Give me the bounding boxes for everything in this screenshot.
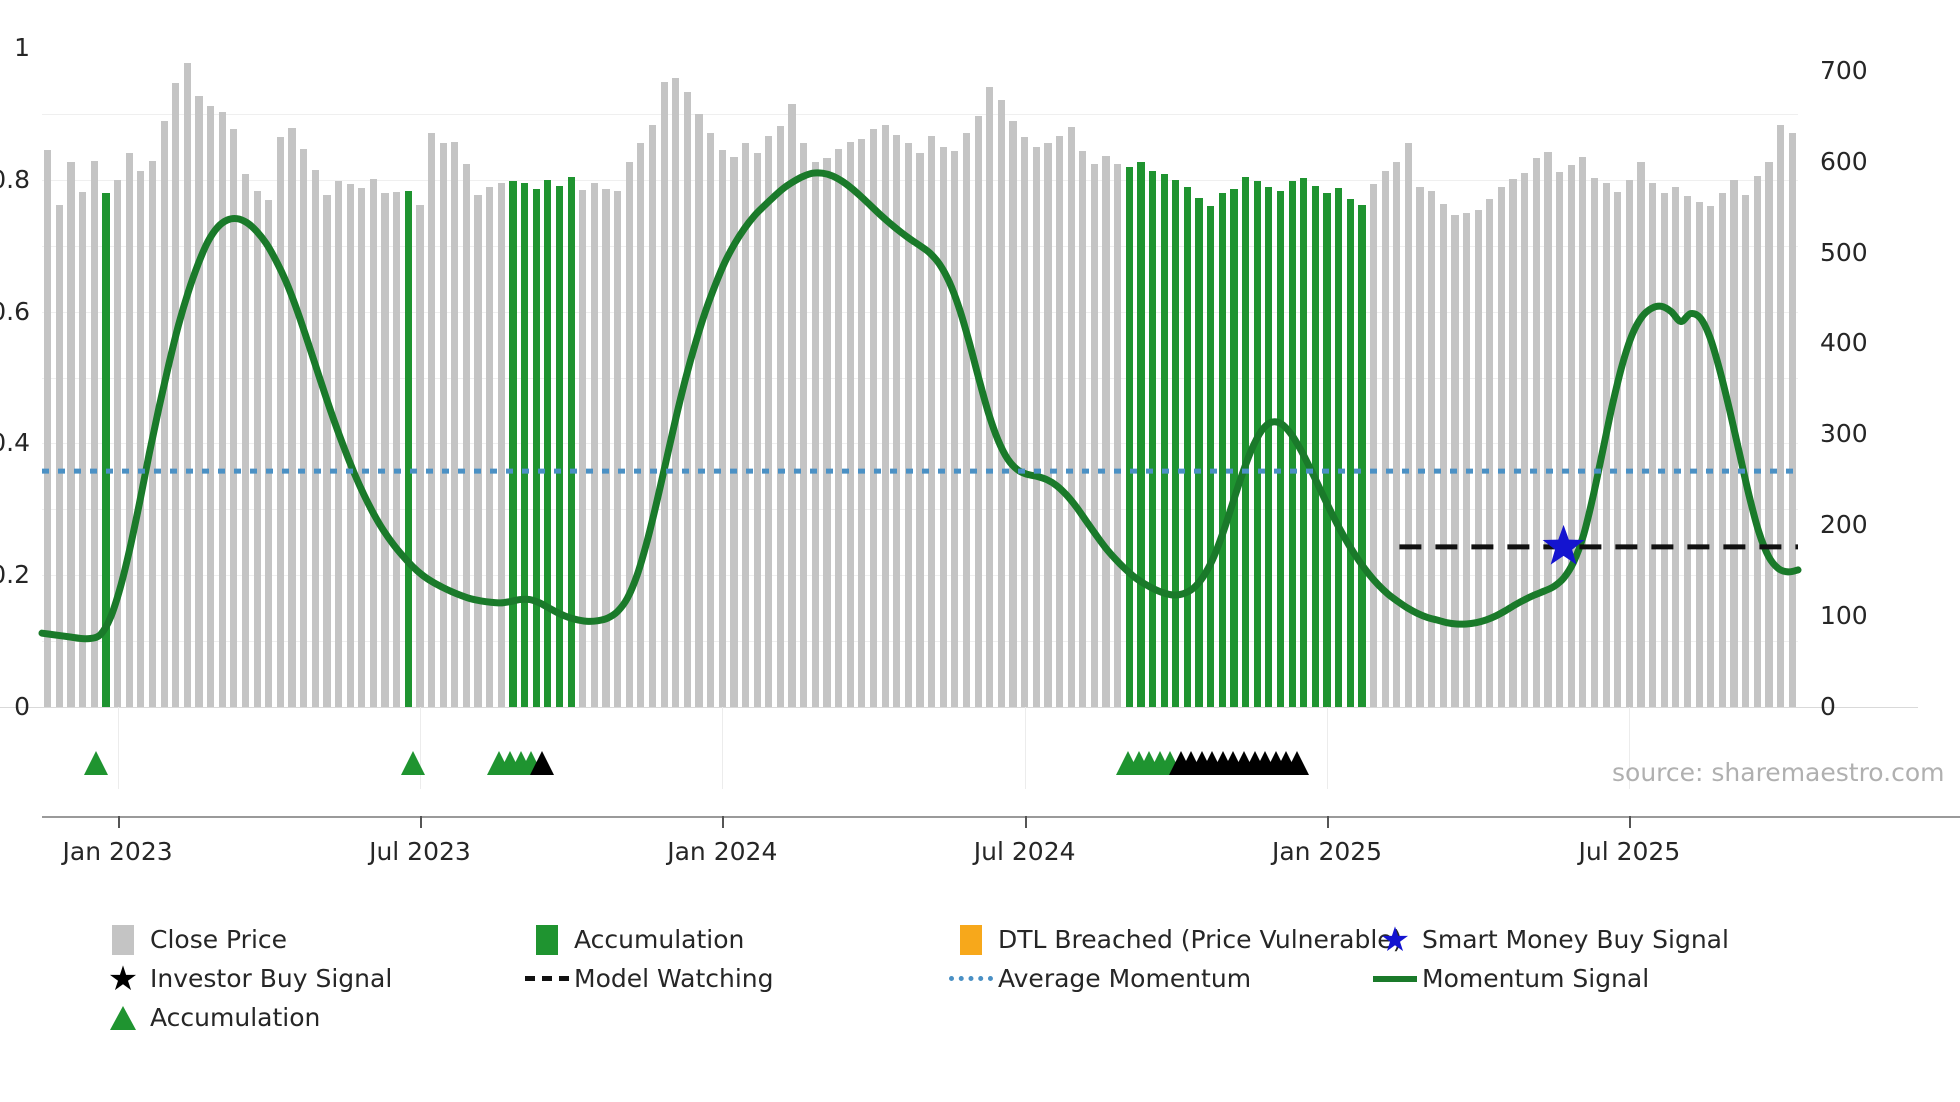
legend-item[interactable]: Momentum Signal [1368,959,1649,998]
y-axis-right-tick-label: 500 [1820,240,1868,265]
legend-item[interactable]: DTL Breached (Price Vulnerable) [944,920,1402,959]
legend-row: Close PriceAccumulationDTL Breached (Pri… [96,920,1916,959]
x-gridline [420,707,421,789]
legend-star-icon: ★ [96,962,150,996]
legend-item[interactable]: Close Price [96,920,287,959]
x-axis-line [42,816,1960,818]
chart-legend: Close PriceAccumulationDTL Breached (Pri… [96,920,1916,1037]
y-axis-left-tick-label: 0.6 [0,299,30,324]
line-overlay [42,48,1798,707]
accumulation-triangle [84,751,108,775]
source-attribution: source: sharemaestro.com [1612,758,1945,787]
legend-label: Average Momentum [998,964,1251,993]
x-axis-tick-mark [1025,816,1027,828]
legend-label: Smart Money Buy Signal [1422,925,1729,954]
y-axis-right-tick-label: 700 [1820,58,1868,83]
x-gridline [722,707,723,789]
plot-area [42,48,1798,707]
x-axis-tick-mark [1327,816,1329,828]
legend-star-icon: ★ [1368,923,1422,957]
legend-item[interactable]: Accumulation [96,998,320,1037]
legend-square-icon [944,925,998,955]
x-gridline [118,707,119,789]
investor-buy-signal-triangle [530,751,554,775]
legend-item[interactable]: ★Smart Money Buy Signal [1368,920,1729,959]
y-axis-left-tick-label: 0.8 [0,167,30,192]
legend-label: Close Price [150,925,287,954]
legend-square-icon [96,925,150,955]
legend-label: Accumulation [150,1003,320,1032]
legend-item[interactable]: Accumulation [520,920,744,959]
legend-item[interactable]: Model Watching [520,959,774,998]
y-axis-left-tick-label: 0.4 [0,430,30,455]
x-gridline [1327,707,1328,789]
legend-solid-line-icon [1368,976,1422,982]
y-axis-right-tick-label: 100 [1820,603,1868,628]
signal-marker-row [42,707,1798,799]
investor-buy-signal-triangle [1285,751,1309,775]
legend-dotted-line-icon [944,976,998,981]
legend-square-icon [520,925,574,955]
y-axis-left-tick-label: 1 [14,35,30,60]
legend-label: Model Watching [574,964,774,993]
y-axis-right: 0100200300400500600700 [1820,48,1940,707]
y-axis-left-tick-label: 0.2 [0,562,30,587]
legend-triangle-icon [96,1006,150,1030]
y-axis-left-tick-label: 0 [14,694,30,719]
x-axis-tick-label: Jan 2024 [667,837,777,866]
x-axis-tick-mark [118,816,120,828]
y-axis-left: 00.20.40.60.81 [0,48,30,707]
x-axis-tick-label: Jul 2023 [369,837,471,866]
chart-page: 00.20.40.60.81 0100200300400500600700 Ja… [0,0,1960,1102]
x-axis-tick-label: Jan 2025 [1272,837,1382,866]
legend-dashed-line-icon [520,976,574,981]
legend-item[interactable]: ★Investor Buy Signal [96,959,392,998]
x-axis-tick-mark [1629,816,1631,828]
x-gridline [1025,707,1026,789]
legend-label: Accumulation [574,925,744,954]
y-axis-right-tick-label: 0 [1820,694,1836,719]
legend-item[interactable]: Average Momentum [944,959,1251,998]
y-axis-right-tick-label: 400 [1820,330,1868,355]
x-axis-tick-label: Jan 2023 [63,837,173,866]
y-axis-right-tick-label: 300 [1820,421,1868,446]
y-axis-right-tick-label: 200 [1820,512,1868,537]
accumulation-triangle [401,751,425,775]
legend-row: ★Investor Buy SignalModel WatchingAverag… [96,959,1916,998]
legend-row: Accumulation [96,998,1916,1037]
legend-label: Investor Buy Signal [150,964,392,993]
momentum-signal-line [42,173,1798,639]
x-axis-tick-mark [420,816,422,828]
legend-label: DTL Breached (Price Vulnerable) [998,925,1402,954]
y-axis-right-tick-label: 600 [1820,149,1868,174]
x-axis-tick-label: Jul 2024 [974,837,1076,866]
legend-label: Momentum Signal [1422,964,1649,993]
x-axis-tick-mark [722,816,724,828]
x-axis-tick-label: Jul 2025 [1579,837,1681,866]
